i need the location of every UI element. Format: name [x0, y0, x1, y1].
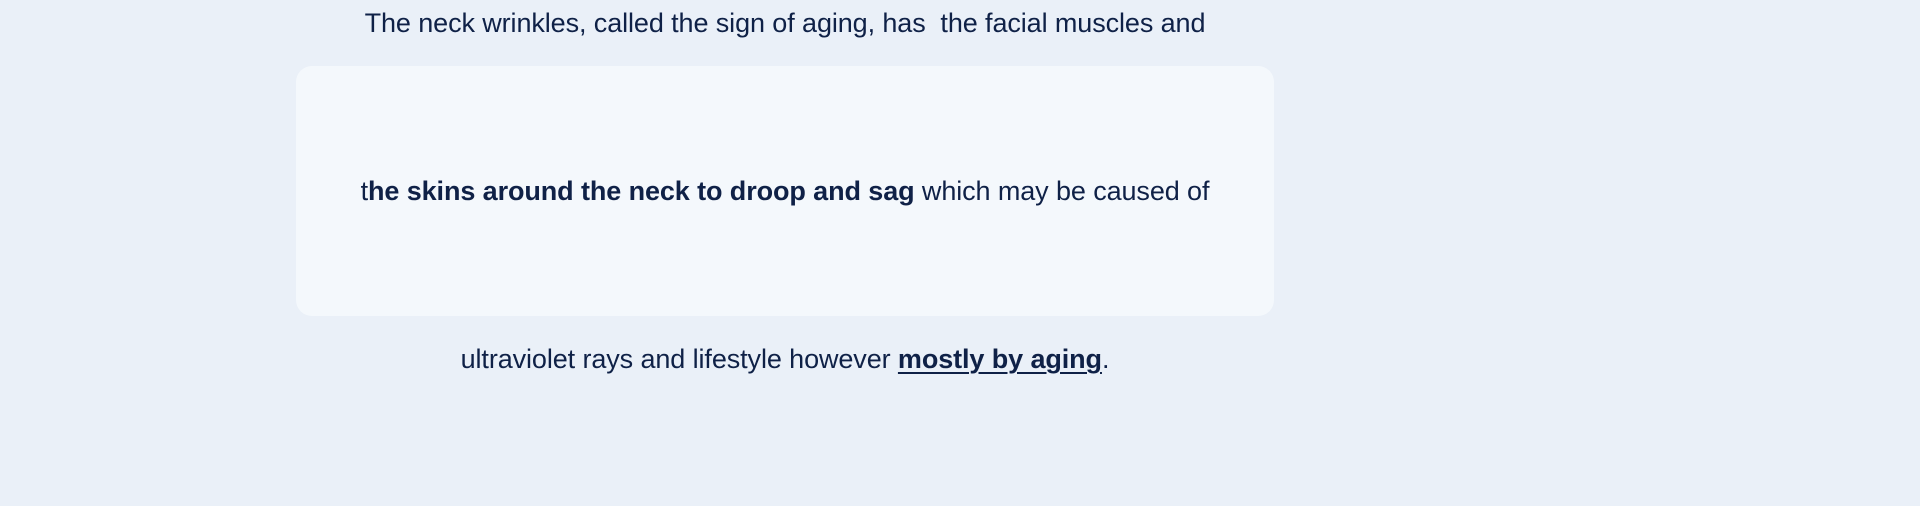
quote-card: The neck wrinkles, called the sign of ag…: [296, 66, 1274, 316]
quote-line-2-segment-bold: he skins around the neck to droop and sa…: [368, 176, 915, 206]
page-background: The neck wrinkles, called the sign of ag…: [0, 0, 1920, 461]
quote-text-block: The neck wrinkles, called the sign of ag…: [345, 0, 1225, 506]
quote-line-3: ultraviolet rays and lifestyle however m…: [345, 338, 1225, 380]
quote-line-1-segment-regular: The neck wrinkles, called the sign of ag…: [365, 8, 1206, 38]
quote-line-3-segment-bold-underline: mostly by aging: [898, 344, 1102, 374]
quote-line-1: The neck wrinkles, called the sign of ag…: [345, 2, 1225, 44]
quote-line-2-segment-regular-tail: which may be caused of: [915, 176, 1210, 206]
quote-line-2: the skins around the neck to droop and s…: [345, 170, 1225, 212]
quote-line-3-segment-regular-tail: .: [1102, 344, 1109, 374]
quote-line-3-segment-regular-lead: ultraviolet rays and lifestyle however: [461, 344, 898, 374]
quote-line-2-segment-regular-lead: t: [361, 176, 368, 206]
